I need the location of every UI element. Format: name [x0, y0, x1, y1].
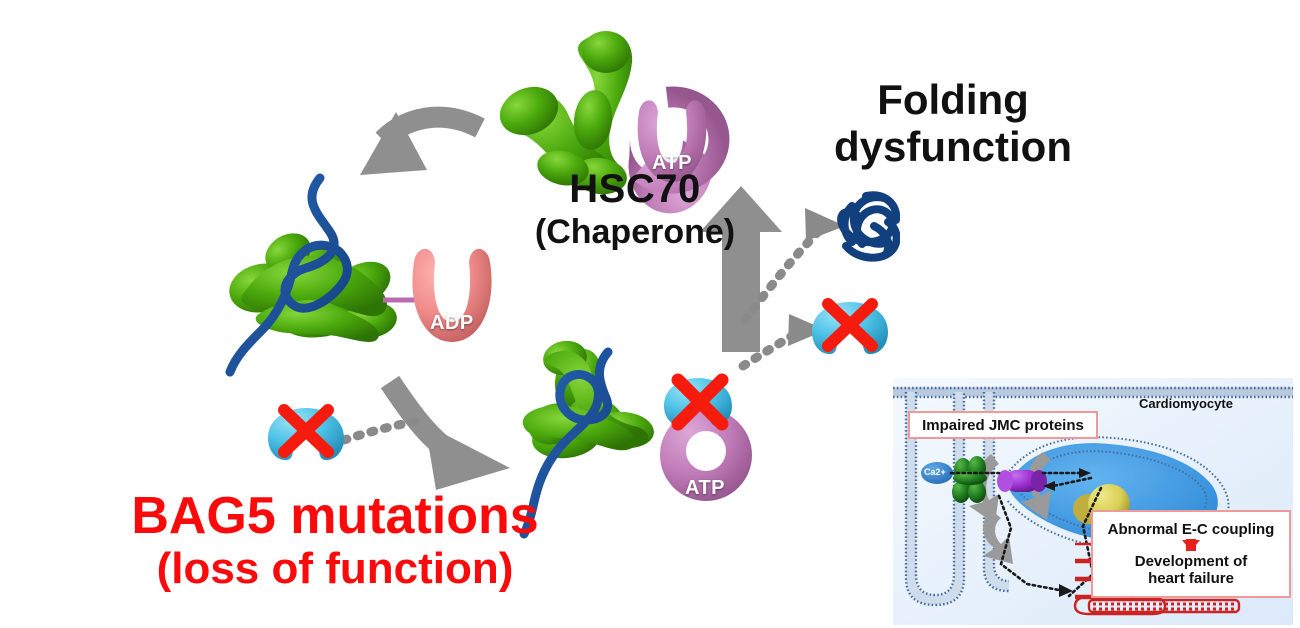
arrow-recycle-to-atp	[360, 112, 480, 175]
loss-of-function-label: (loss of function)	[75, 545, 595, 593]
abnormal-ec-coupling-box: Abnormal E-C coupling Development of hea…	[1091, 510, 1291, 598]
bag5-free-mutant	[268, 408, 344, 460]
jmc-purple-protein	[997, 470, 1047, 492]
impaired-jmc-box: Impaired JMC proteins	[908, 411, 1098, 439]
development-label: Development of	[1135, 553, 1248, 570]
bag5-mutations-label: BAG5 mutations	[75, 488, 595, 544]
hsc70-label: HSC70	[495, 168, 775, 211]
hsc70-adp-substrate-complex	[225, 178, 492, 372]
ltcc-green-protein	[952, 456, 987, 503]
calcium-ion-badge	[921, 462, 953, 484]
cardiomyocyte-label: Cardiomyocyte	[1139, 396, 1233, 411]
folding-dysfunction-label: Folding dysfunction	[822, 76, 1084, 170]
heart-failure-label: heart failure	[1148, 570, 1234, 587]
red-down-arrow-icon	[1182, 540, 1200, 551]
figure-canvas: ATP ADP ATP HSC70 (Chaperone) Folding dy…	[0, 0, 1300, 628]
misfolded-protein-aggregate	[841, 195, 896, 257]
abnormal-ec-label: Abnormal E-C coupling	[1108, 521, 1275, 538]
cardiomyocyte-inset-panel: Ca2+ Cardiomyocyte Impaired JMC proteins…	[893, 378, 1293, 625]
bag5-released-mutant	[812, 302, 888, 354]
chaperone-sublabel: (Chaperone)	[495, 214, 775, 251]
sarcolemma-membrane	[893, 388, 1293, 397]
impaired-jmc-label: Impaired JMC proteins	[922, 417, 1084, 434]
arrow-to-atp-complex	[390, 382, 510, 490]
